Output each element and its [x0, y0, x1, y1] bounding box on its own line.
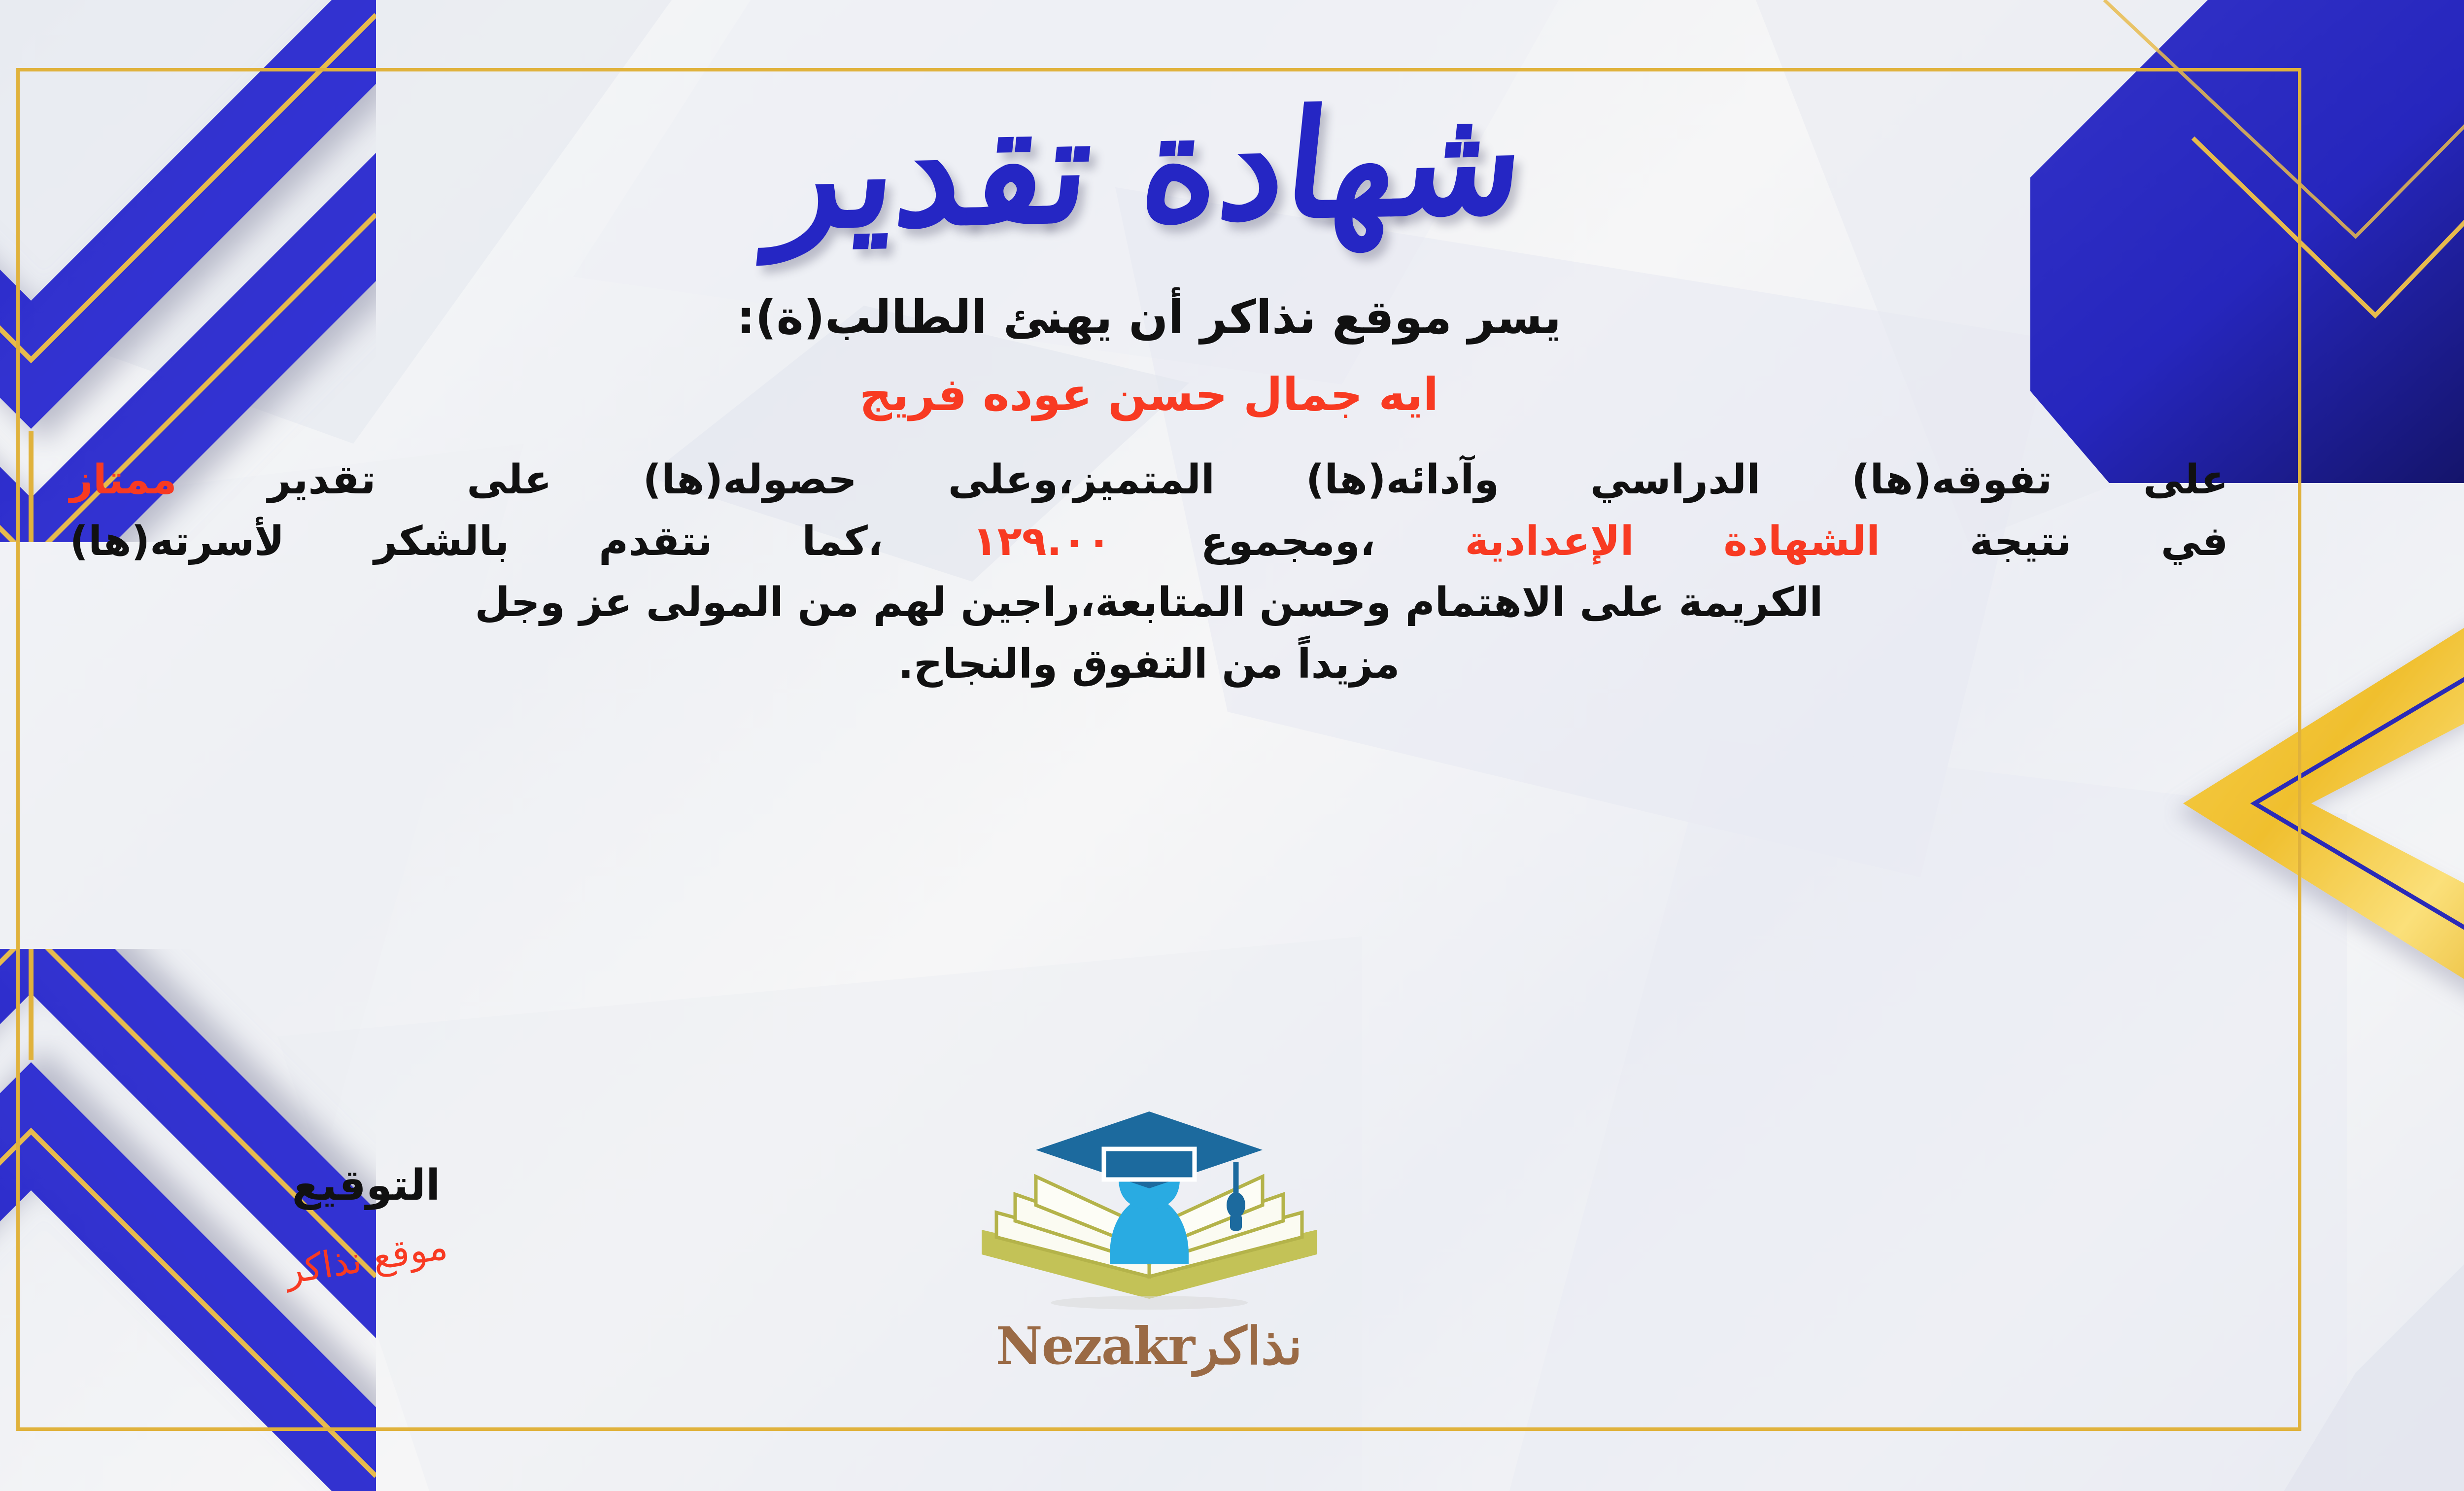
- certificate-content: شهادة تقدير يسر موقع نذاكر أن يهنئ الطال…: [0, 0, 2464, 1491]
- body-line-2: في نتيجة الشهادة الإعدادية ،ومجموع ١٢٩.٠…: [70, 511, 2228, 573]
- signature-block: التوقيع موقع نذاكر: [179, 1161, 553, 1280]
- certificate-canvas: شهادة تقدير يسر موقع نذاكر أن يهنئ الطال…: [0, 0, 2464, 1491]
- body-line-2-prefix: في نتيجة: [1970, 518, 2228, 565]
- logo-name-latin: Nezakr: [996, 1316, 1195, 1376]
- body-line-1-text: على تفوقه(ها) الدراسي وآدائه(ها) المتميز…: [268, 456, 2228, 503]
- signature-label: التوقيع: [179, 1161, 553, 1210]
- exam-name: الشهادة الإعدادية: [1465, 518, 1881, 565]
- logo-name-arabic: نذاكر: [1194, 1316, 1302, 1376]
- graduation-book-icon: [962, 1107, 1336, 1318]
- signature-handwritten: موقع نذاكر: [282, 1225, 450, 1293]
- greeting-line: يسر موقع نذاكر أن يهنئ الطالب(ة):: [737, 291, 1561, 345]
- body-line-2-mid: ،ومجموع: [1201, 518, 1375, 565]
- body-line-1: على تفوقه(ها) الدراسي وآدائه(ها) المتميز…: [70, 450, 2228, 511]
- body-line-2-suffix: ،كما نتقدم بالشكر لأسرته(ها): [70, 518, 883, 565]
- body-line-3: الكريمة على الاهتمام وحسن المتابعة،راجين…: [70, 572, 2228, 634]
- title-area: شهادة تقدير: [0, 74, 2464, 261]
- certificate-footer: التوقيع موقع نذاكر: [0, 1107, 2464, 1422]
- body-line-4: مزيداً من التفوق والنجاح.: [70, 634, 2228, 695]
- site-logo: نذاكرNezakr: [923, 1107, 1376, 1376]
- certificate-title: شهادة تقدير: [766, 86, 1531, 249]
- certificate-body: على تفوقه(ها) الدراسي وآدائه(ها) المتميز…: [70, 450, 2228, 695]
- student-name: ايه جمال حسن عوده فريج: [859, 368, 1438, 421]
- grade-value: ممتاز: [70, 456, 177, 503]
- total-score: ١٢٩.٠٠: [973, 518, 1111, 565]
- logo-wordmark: نذاكرNezakr: [923, 1316, 1376, 1376]
